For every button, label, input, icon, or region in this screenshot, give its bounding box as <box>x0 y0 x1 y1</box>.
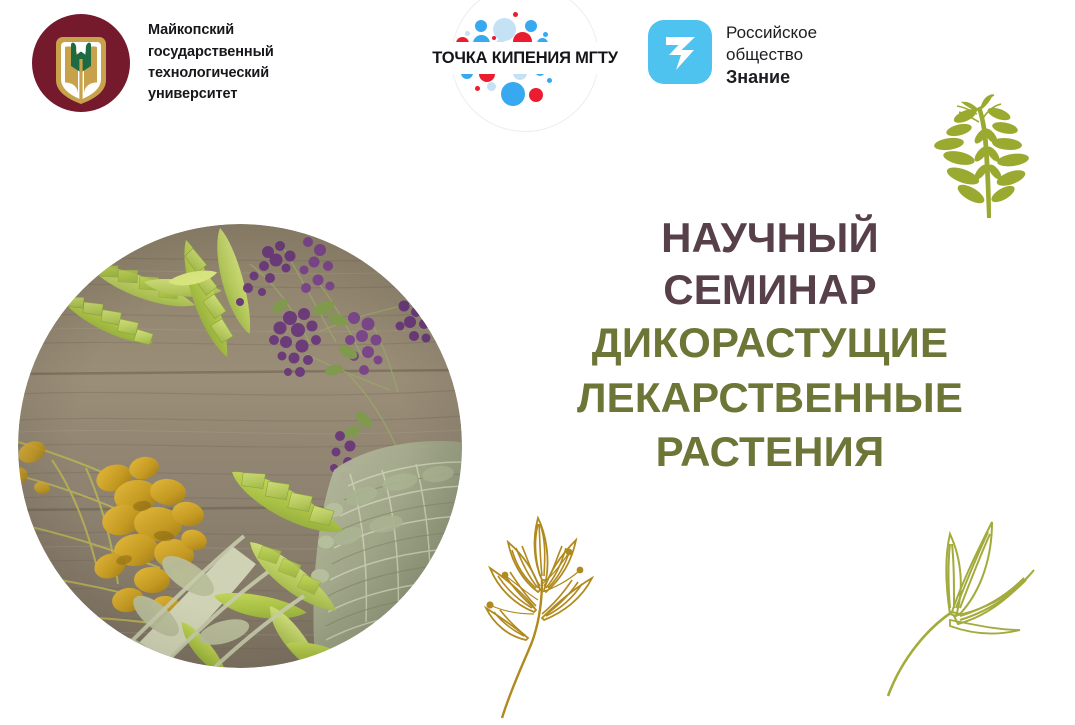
znanie-line-2: общество <box>726 44 817 66</box>
znanie-line-3: Знание <box>726 66 817 89</box>
znanie-logo-text: Российское общество Знание <box>726 20 817 89</box>
herbs-on-wood-photo <box>18 224 462 668</box>
sprig-bottom-right-icon <box>880 478 1040 713</box>
logo-bar: Майкопский государственный технологическ… <box>0 0 1075 118</box>
title-line-2: СЕМИНАР <box>520 264 1020 316</box>
znanie-z-icon <box>648 20 712 84</box>
sprig-top-right-icon <box>925 92 1055 225</box>
mgtu-line-3: технологический <box>148 63 274 84</box>
mgtu-logo-text: Майкопский государственный технологическ… <box>148 20 274 106</box>
mgtu-logo: Майкопский государственный технологическ… <box>32 14 274 112</box>
title-line-4: ЛЕКАРСТВЕННЫЕ <box>520 371 1020 426</box>
mgtu-emblem-icon <box>32 14 130 112</box>
mgtu-line-2: государственный <box>148 42 274 63</box>
znanie-line-1: Российское <box>726 22 817 44</box>
tochka-kipeniya-label: ТОЧКА КИПЕНИЯ МГТУ <box>432 49 618 68</box>
znanie-logo: Российское общество Знание <box>648 20 817 89</box>
tochka-kipeniya-band: ТОЧКА КИПЕНИЯ МГТУ <box>425 44 625 72</box>
mgtu-line-1: Майкопский <box>148 20 274 41</box>
mgtu-line-4: университет <box>148 84 274 105</box>
poster-title: НАУЧНЫЙ СЕМИНАР ДИКОРАСТУЩИЕ ЛЕКАРСТВЕНН… <box>520 212 1020 480</box>
tochka-kipeniya-logo: ТОЧКА КИПЕНИЯ МГТУ <box>425 4 625 112</box>
title-line-3: ДИКОРАСТУЩИЕ <box>520 316 1020 371</box>
sprig-bottom-center-icon <box>472 480 598 725</box>
title-line-5: РАСТЕНИЯ <box>520 425 1020 480</box>
